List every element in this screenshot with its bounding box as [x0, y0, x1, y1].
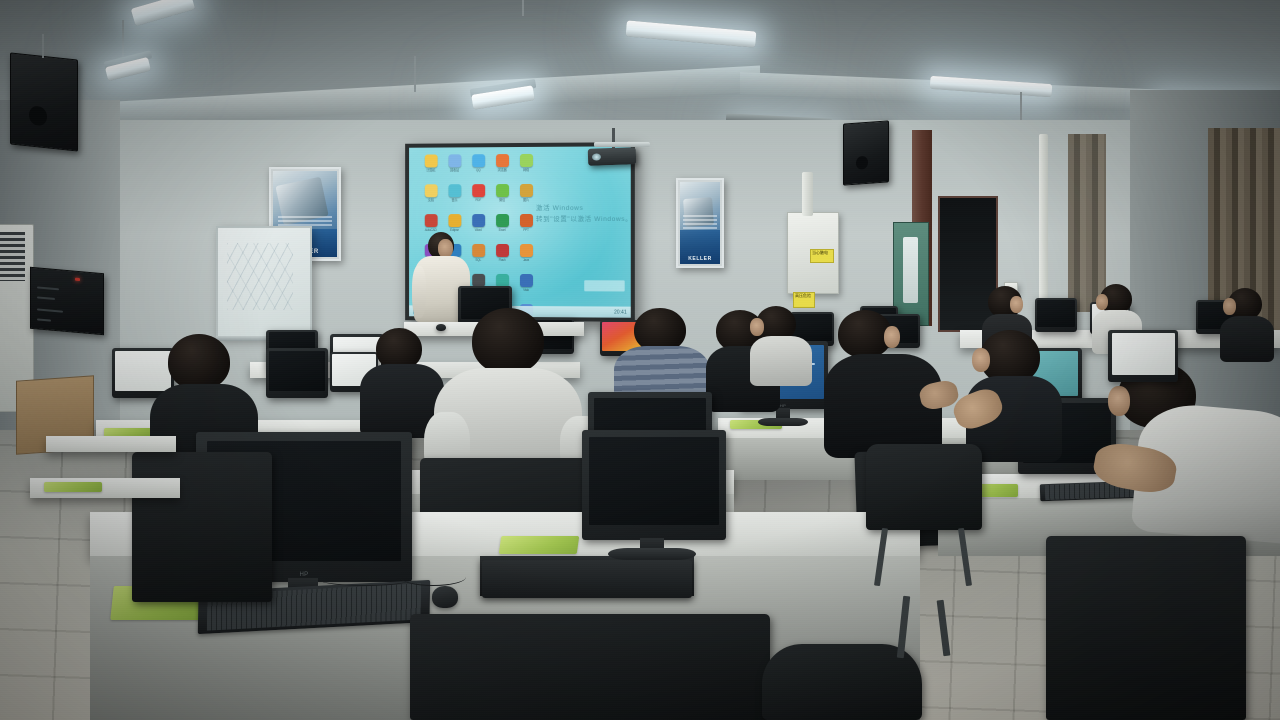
power-led-icon: [75, 278, 80, 281]
monitor-cable: [320, 574, 410, 586]
desktop-icon-glyph: [448, 214, 461, 227]
monitor-fg-right-base: [608, 548, 696, 560]
desktop-icon-glyph: [472, 214, 485, 227]
classroom-photo: 计算机回收站QQ浏览器网络文档音乐PDF微信图片AutoCADEclipseWo…: [0, 0, 1280, 720]
desktop-icon-glyph: [472, 184, 485, 197]
desktop-icon-glyph: [424, 154, 437, 167]
monitor-screen[interactable]: [1112, 333, 1175, 375]
desktop-watermark: 激活 Windows 转到"设置"以激活 Windows。: [536, 203, 631, 225]
rack-slot: [37, 286, 59, 290]
light-rod-3: [414, 56, 416, 92]
desktop-icon-label: PDF: [466, 198, 490, 202]
rack-slot: [37, 296, 55, 300]
face: [750, 318, 764, 336]
face: [884, 326, 900, 348]
monitor-body: [582, 430, 726, 540]
head: [168, 334, 230, 390]
desktop-icon-glyph: [519, 244, 532, 257]
desktop-icon-glyph: [519, 214, 532, 227]
desktop-icon-glyph: [472, 154, 485, 167]
desktop-icon-glyph: [472, 244, 485, 257]
monitor-brand-logo: HP: [780, 403, 786, 408]
desktop-icon[interactable]: Java: [514, 243, 538, 269]
desktop-icon-glyph: [496, 154, 509, 167]
desk-surface: [46, 436, 176, 452]
desktop-icon-label: 网络: [514, 168, 538, 172]
monitor-body: [1108, 330, 1178, 382]
desktop-icon-label: 微信: [490, 198, 514, 202]
desktop-icon[interactable]: PPT: [514, 213, 538, 239]
electrical-panel: 当心触电: [787, 212, 839, 294]
mousepad-farleft: [44, 482, 102, 492]
desktop-icon-label: SQL: [466, 258, 490, 262]
monitor-row3-left-dark: [266, 348, 328, 398]
desktop-icon-glyph: [424, 214, 437, 227]
mouse-cable: [400, 568, 466, 586]
desktop-icon[interactable]: 文档: [419, 183, 443, 209]
window-curtain-2: [1068, 134, 1106, 312]
desktop-icon[interactable]: 图片: [514, 183, 538, 209]
desktop-icon-glyph: [424, 184, 437, 197]
desktop-icon[interactable]: 网络: [514, 153, 538, 179]
desktop-icon[interactable]: Visio: [514, 273, 538, 299]
ceiling-projector: [588, 147, 637, 166]
mouse-foreground[interactable]: [432, 586, 458, 608]
desktop-icon-label: PPT: [514, 228, 538, 232]
instructor-arm: [412, 266, 426, 318]
desktop-icon[interactable]: 浏览器: [490, 153, 514, 179]
wall-conduit-vertical: [1039, 134, 1048, 318]
desktop-icon-glyph: [496, 274, 509, 287]
monitor-far-1: [1035, 298, 1077, 332]
desktop-icon[interactable]: 音乐: [443, 183, 467, 209]
poster-right-brand: KELLER: [680, 256, 720, 262]
desktop-icon[interactable]: 计算机: [419, 153, 443, 179]
chair-empty-right[interactable]: [866, 444, 982, 530]
poster-right-art: KELLER: [680, 182, 720, 264]
desktop-icon-label: Word: [466, 228, 490, 232]
monitor-right-mid: [1108, 330, 1178, 382]
desktop-icon[interactable]: PDF: [466, 183, 490, 209]
watermark-line-2: 转到"设置"以激活 Windows。: [536, 214, 631, 225]
desk-equipment-tray: [482, 560, 692, 598]
desktop-icon-label: 图片: [514, 198, 538, 202]
panel-conduit: [802, 172, 813, 216]
desktop-icon-label: Visio: [514, 288, 538, 292]
whiteboard: [216, 226, 312, 338]
rack-slot: [37, 308, 63, 312]
mousepad-foreground-2: [499, 536, 580, 554]
desktop-icon-label: 计算机: [419, 168, 443, 172]
desktop-icon[interactable]: QQ: [466, 153, 490, 179]
desktop-icon-glyph: [519, 154, 532, 167]
desktop-icon-label: 浏览器: [490, 168, 514, 172]
monitor-row3-base: [758, 418, 808, 426]
desktop-icon-glyph: [519, 184, 532, 197]
desktop-icon-glyph: [448, 184, 461, 197]
desktop-icon-label: Eclipse: [443, 228, 467, 232]
desktop-icon-label: Flash: [490, 258, 514, 262]
monitor-foreground-right: [582, 430, 726, 540]
light-rod-2: [122, 20, 124, 62]
chair-foreground-center[interactable]: [410, 614, 770, 720]
desktop-icon-label: 文档: [419, 198, 443, 202]
amplifier-rack: [30, 267, 104, 335]
monitor-body: [1035, 298, 1077, 332]
taskbar-clock: 20:41: [614, 309, 627, 315]
rear-doorway: [938, 196, 998, 332]
desktop-icon-glyph: [472, 274, 485, 287]
wall-speaker-left: [10, 52, 78, 151]
desktop-icon-label: 音乐: [443, 198, 467, 202]
rack-slot: [37, 318, 51, 321]
desktop-icon[interactable]: Word: [466, 213, 490, 239]
desktop-icon[interactable]: SQL: [466, 243, 490, 269]
monitor-screen[interactable]: [1037, 300, 1075, 327]
desktop-icon-glyph: [519, 274, 532, 287]
chair-foreground-left[interactable]: [132, 452, 272, 602]
projector-ceiling-plate: [594, 142, 650, 147]
face: [1096, 294, 1108, 310]
desktop-icon-glyph: [496, 214, 509, 227]
light-rod-4: [522, 0, 524, 16]
head: [472, 308, 544, 374]
monitor-body: [266, 348, 328, 398]
chair-foreground-right[interactable]: [1046, 536, 1246, 720]
poster-right: KELLER: [676, 178, 724, 268]
wall-speaker-right: [843, 120, 889, 185]
desktop-icon-label: Java: [514, 258, 538, 262]
monitor-screen[interactable]: [589, 437, 719, 525]
monitor-screen[interactable]: [269, 351, 325, 391]
face: [1010, 296, 1023, 313]
face: [1108, 386, 1130, 416]
desktop-icon-label: QQ: [466, 168, 490, 172]
desktop-icon-glyph: [496, 244, 509, 257]
desktop-icon[interactable]: 微信: [490, 183, 514, 209]
desktop-icon-glyph: [448, 154, 461, 167]
desktop-icon[interactable]: Flash: [490, 243, 514, 269]
desktop-icon-glyph: [496, 184, 509, 197]
desk-farleft-1: [46, 436, 176, 452]
warning-label-shock: 当心触电: [810, 249, 834, 263]
speaker-bracket-left: [42, 34, 44, 58]
podium-mouse: [436, 324, 446, 331]
desktop-icon-label: 回收站: [443, 168, 467, 172]
ac-vent-grille: [0, 232, 25, 280]
torso: [750, 336, 812, 386]
desktop-icon[interactable]: Excel: [490, 213, 514, 239]
whiteboard-writing: [227, 243, 293, 310]
monitor-brand-logo: HP: [300, 572, 309, 578]
face: [972, 348, 990, 372]
desktop-icon[interactable]: 回收站: [443, 153, 467, 179]
screen-overlay-badge: [584, 280, 624, 291]
projector-lens-icon: [592, 153, 601, 160]
monitor-screen[interactable]: [115, 351, 171, 391]
desktop-icon-label: Excel: [490, 228, 514, 232]
watermark-line-1: 激活 Windows: [536, 203, 631, 214]
face: [1223, 298, 1236, 315]
warning-label-voltage: 高压危险: [793, 292, 815, 308]
green-cabinet: [893, 222, 929, 326]
torso: [1220, 316, 1274, 362]
